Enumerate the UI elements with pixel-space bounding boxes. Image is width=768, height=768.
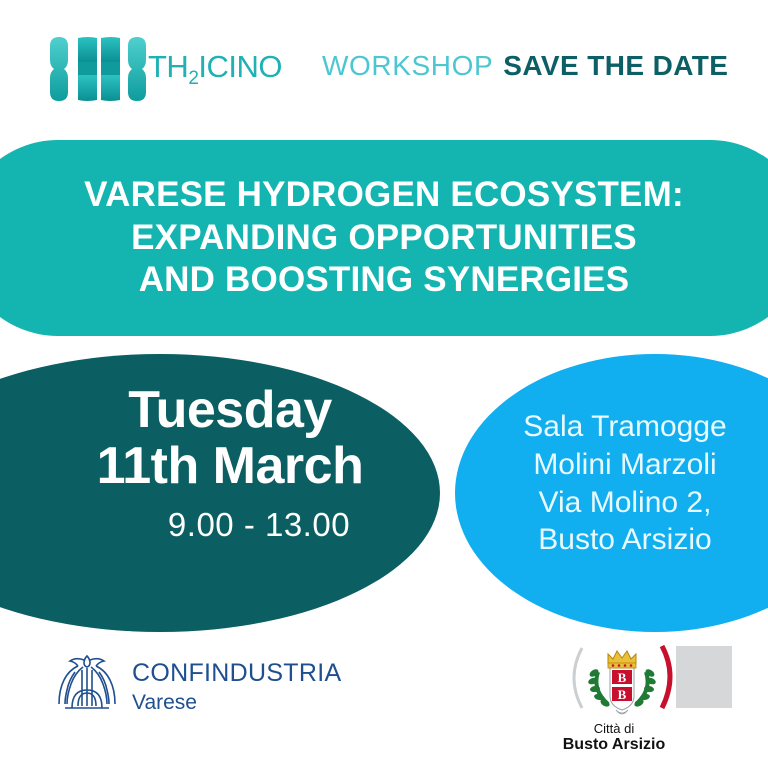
event-time: 9.00 - 13.00 <box>60 506 400 544</box>
svg-text:B: B <box>618 670 627 685</box>
busto-arsizio-wordmark: Città di Busto Arsizio <box>536 722 692 754</box>
busto-arsizio-crest-icon: B B <box>536 642 736 726</box>
event-date-weekday: Tuesday <box>60 382 400 438</box>
event-poster: TH2ICINO WORKSHOP SAVE THE DATE VARESE H… <box>0 0 768 768</box>
venue-line-1: Sala Tramogge <box>500 408 750 446</box>
workshop-label: WORKSHOP <box>322 50 493 82</box>
header-tagline: WORKSHOP SAVE THE DATE <box>322 50 728 82</box>
svg-text:B: B <box>618 687 627 702</box>
brand-name-tail: ICINO <box>198 49 282 84</box>
confindustria-eagle-logo-icon <box>52 650 122 724</box>
save-the-date-label: SAVE THE DATE <box>503 50 728 82</box>
event-date-block: Tuesday 11th March 9.00 - 13.00 <box>60 382 400 544</box>
title-banner: VARESE HYDROGEN ECOSYSTEM: EXPANDING OPP… <box>0 140 768 336</box>
event-title-line-1: VARESE HYDROGEN ECOSYSTEM: <box>84 174 684 217</box>
brand-name-main: TH <box>148 49 188 84</box>
event-date-day: 11th March <box>60 438 400 494</box>
event-title-line-2: EXPANDING OPPORTUNITIES <box>84 217 684 260</box>
event-venue-block: Sala Tramogge Molini Marzoli Via Molino … <box>500 408 750 559</box>
venue-line-4: Busto Arsizio <box>500 521 750 559</box>
brand-name-subscript: 2 <box>188 68 198 89</box>
hydrogen-h-logo-icon <box>44 36 152 102</box>
busto-arsizio-logo: B B Città di Busto Arsizio <box>536 642 736 754</box>
poster-footer: CONFINDUSTRIA Varese <box>0 636 768 768</box>
confindustria-city: Varese <box>132 691 341 715</box>
venue-line-3: Via Molino 2, <box>500 484 750 522</box>
venue-line-2: Molini Marzoli <box>500 446 750 484</box>
confindustria-varese-logo: CONFINDUSTRIA Varese <box>52 650 341 724</box>
busto-label-citta: Città di <box>536 722 692 736</box>
poster-header: TH2ICINO WORKSHOP SAVE THE DATE <box>0 0 768 130</box>
busto-label-name: Busto Arsizio <box>536 736 692 754</box>
confindustria-name: CONFINDUSTRIA <box>132 659 341 687</box>
confindustria-wordmark: CONFINDUSTRIA Varese <box>132 659 341 715</box>
th2icino-brand-logo: TH2ICINO <box>44 34 284 104</box>
event-title: VARESE HYDROGEN ECOSYSTEM: EXPANDING OPP… <box>24 174 744 302</box>
event-title-line-3: AND BOOSTING SYNERGIES <box>84 259 684 302</box>
brand-wordmark: TH2ICINO <box>148 51 282 88</box>
